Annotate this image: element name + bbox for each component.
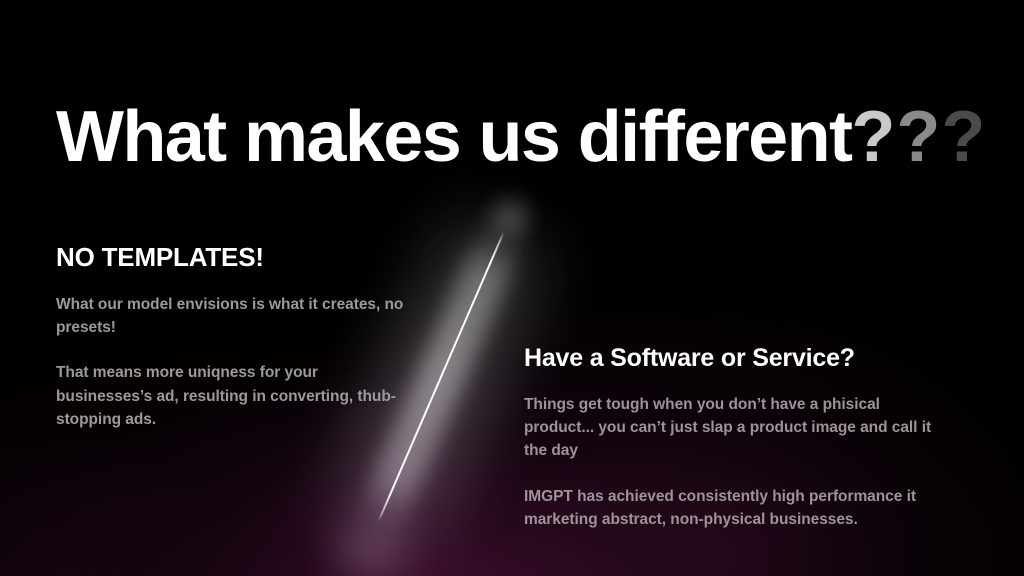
right-column-paragraph-2: IMGPT has achieved consistently high per… xyxy=(524,485,954,532)
slide-title: What makes us different??? xyxy=(56,100,986,176)
presentation-slide: What makes us different??? NO TEMPLATES!… xyxy=(0,0,1024,576)
left-column: NO TEMPLATES! What our model envisions i… xyxy=(56,243,416,431)
left-column-paragraph-2: That means more uniqness for your busine… xyxy=(56,361,416,431)
right-column-heading: Have a Software or Service? xyxy=(524,344,954,373)
left-column-paragraph-1: What our model envisions is what it crea… xyxy=(56,293,416,340)
question-mark-icon-2: ? xyxy=(896,97,941,177)
right-column: Have a Software or Service? Things get t… xyxy=(524,344,954,531)
left-column-heading: NO TEMPLATES! xyxy=(56,243,416,273)
question-mark-icon-1: ? xyxy=(851,97,896,177)
right-column-paragraph-1: Things get tough when you don’t have a p… xyxy=(524,393,954,463)
question-mark-icon-3: ? xyxy=(941,97,986,177)
slide-content: What makes us different??? NO TEMPLATES!… xyxy=(0,0,1024,576)
slide-title-text: What makes us different xyxy=(56,97,851,177)
